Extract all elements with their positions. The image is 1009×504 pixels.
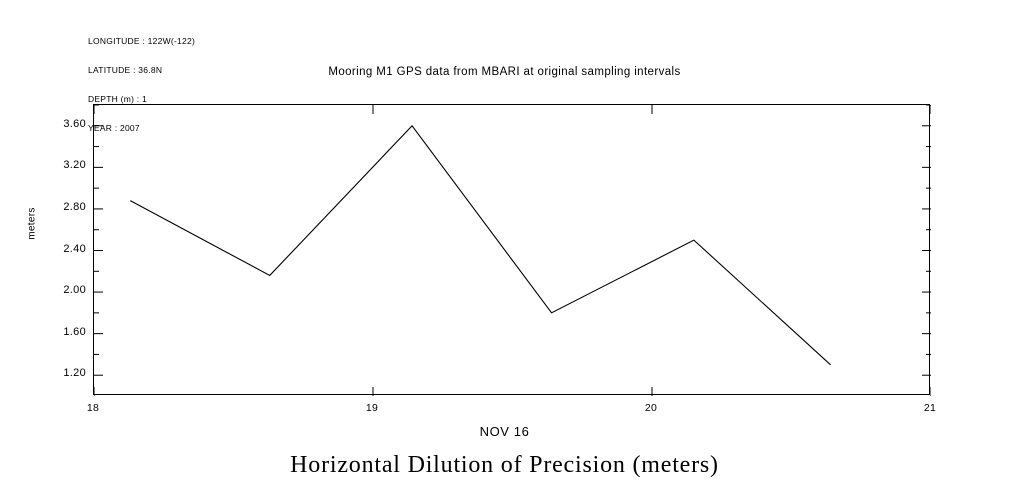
- y-tick-label: 3.20: [40, 159, 86, 171]
- x-tick-label: 21: [910, 402, 950, 414]
- x-axis-label: NOV 16: [0, 424, 1009, 439]
- x-tick-label: 20: [631, 402, 671, 414]
- x-tick-label: 18: [73, 402, 113, 414]
- figure-caption: Horizontal Dilution of Precision (meters…: [0, 452, 1009, 479]
- y-tick-label: 3.60: [40, 118, 86, 130]
- y-tick-label: 2.00: [40, 284, 86, 296]
- y-tick-label: 1.60: [40, 326, 86, 338]
- chart-title: Mooring M1 GPS data from MBARI at origin…: [0, 66, 1009, 78]
- y-tick-label: 2.80: [40, 201, 86, 213]
- data-series-line: [130, 126, 830, 365]
- x-tick-label: 19: [352, 402, 392, 414]
- plot-area: [93, 104, 930, 395]
- y-tick-label: 1.20: [40, 367, 86, 379]
- y-axis-label: meters: [27, 184, 38, 264]
- chart-canvas: LONGITUDE : 122W(-122) LATITUDE : 36.8N …: [0, 0, 1009, 504]
- plot-svg: [94, 105, 931, 396]
- metadata-longitude: LONGITUDE : 122W(-122): [88, 37, 195, 47]
- y-tick-label: 2.40: [40, 243, 86, 255]
- metadata-depth: DEPTH (m) : 1: [88, 95, 195, 105]
